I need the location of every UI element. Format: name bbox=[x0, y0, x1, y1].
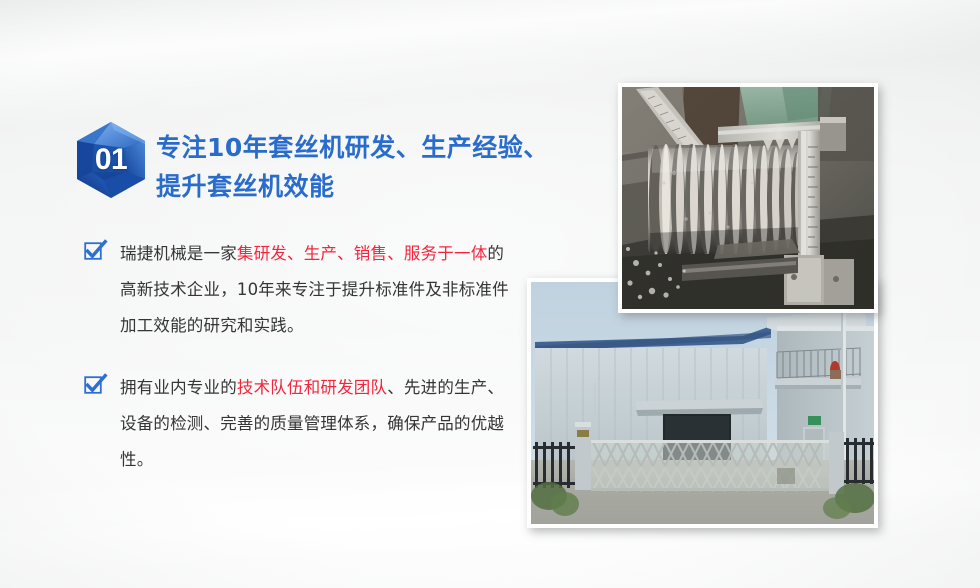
section-number-label: 01 bbox=[74, 120, 148, 200]
bullet-1-segment-1: 瑞捷机械是一家 bbox=[120, 244, 237, 263]
heading-row: 01 专注10年套丝机研发、生产经验、 提升套丝机效能 bbox=[74, 118, 549, 206]
checkbox-checked-icon bbox=[84, 374, 106, 396]
factory-building-photo bbox=[527, 278, 878, 528]
list-item: 拥有业内专业的技术队伍和研发团队、先进的生产、设备的检测、完善的质量管理体系，确… bbox=[84, 370, 524, 478]
bullet-2-segment-2-highlight: 技术队伍和研发团队 bbox=[237, 378, 387, 397]
threaded-rod-measurement-photo bbox=[618, 83, 878, 313]
section-title: 专注10年套丝机研发、生产经验、 提升套丝机效能 bbox=[156, 118, 549, 206]
bullet-2-segment-1: 拥有业内专业的 bbox=[120, 378, 237, 397]
checkbox-checked-icon bbox=[84, 240, 106, 262]
list-item: 瑞捷机械是一家集研发、生产、销售、服务于一体的高新技术企业，10年来专注于提升标… bbox=[84, 236, 524, 344]
section-number-badge: 01 bbox=[74, 120, 148, 200]
promo-banner: 01 专注10年套丝机研发、生产经验、 提升套丝机效能 瑞捷机械是一家集研发、生… bbox=[0, 0, 980, 588]
feature-bullet-list: 瑞捷机械是一家集研发、生产、销售、服务于一体的高新技术企业，10年来专注于提升标… bbox=[84, 236, 524, 504]
list-item-text: 瑞捷机械是一家集研发、生产、销售、服务于一体的高新技术企业，10年来专注于提升标… bbox=[120, 236, 520, 344]
bullet-1-segment-2-highlight: 集研发、生产、销售、服务于一体 bbox=[237, 244, 488, 263]
text-column: 01 专注10年套丝机研发、生产经验、 提升套丝机效能 瑞捷机械是一家集研发、生… bbox=[0, 0, 560, 588]
list-item-text: 拥有业内专业的技术队伍和研发团队、先进的生产、设备的检测、完善的质量管理体系，确… bbox=[120, 370, 520, 478]
section-title-line-2: 提升套丝机效能 bbox=[156, 167, 549, 206]
section-title-line-1: 专注10年套丝机研发、生产经验、 bbox=[156, 128, 549, 167]
